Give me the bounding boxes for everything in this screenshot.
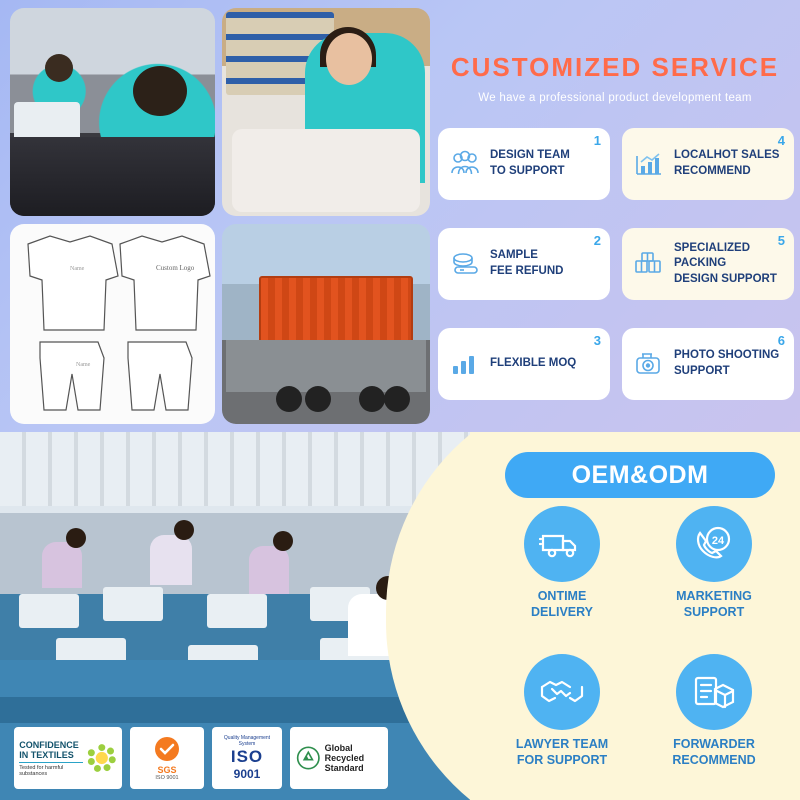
certificate-strip: CONFIDENCE IN TEXTILES Tested for harmfu… [0,716,470,800]
certificate-sgs: SGS ISO 9001 [130,727,204,789]
service-card-sample-fee-refund[interactable]: 2 SAMPLE FEE REFUND [438,228,610,300]
phone-24-icon: 24 [676,506,752,582]
oem-odm-badge: OEM&ODM [505,452,775,498]
cert-title: SGS [152,765,182,775]
oem-label-line1: MARKETING [676,589,752,603]
page-title: CUSTOMIZED SERVICE [440,52,790,83]
oem-label-line1: ONTIME [538,589,587,603]
oem-label-line2: SUPPORT [684,605,744,619]
service-label-line1: FLEXIBLE MOQ [490,357,576,369]
oem-label-line1: LAWYER TEAM [516,737,608,751]
oem-item-ontime-delivery[interactable]: ONTIME DELIVERY [487,506,637,621]
service-card-design-team[interactable]: 1 DESIGN TEAM TO SUPPORT [438,128,610,200]
photo-design-sketches: Custom Logo Name Name [10,224,215,424]
recycle-icon [296,743,321,773]
service-label-line1: SAMPLE [490,249,538,261]
boxes-icon [632,247,666,281]
service-card-flexible-moq[interactable]: 3 FLEXIBLE MOQ [438,328,610,400]
svg-text:Custom Logo: Custom Logo [156,264,195,272]
svg-text:Name: Name [76,362,91,368]
service-label-line1: DESIGN TEAM [490,149,570,161]
service-number: 6 [778,333,785,348]
service-number: 5 [778,233,785,248]
cert-subtitle: 9001 [218,767,276,781]
service-card-photo-shooting[interactable]: 6 PHOTO SHOOTING SUPPORT [622,328,794,400]
service-card-localhot-sales[interactable]: 4 LOCALHOT SALES RECOMMEND [622,128,794,200]
people-icon [448,147,482,181]
service-label-line2: SUPPORT [674,365,730,377]
cert-title: ISO [218,747,276,767]
camera-icon [632,347,666,381]
service-label-line2: TO SUPPORT [490,165,565,177]
checklist-box-icon [676,654,752,730]
certificate-iso-9001: Quality Management System ISO 9001 [212,727,282,789]
delivery-truck-icon [524,506,600,582]
service-label-line2: FEE REFUND [490,265,563,277]
cert-title-line2: Standard [325,763,382,773]
service-number: 4 [778,133,785,148]
oem-item-lawyer-team[interactable]: LAWYER TEAM FOR SUPPORT [487,654,637,769]
svg-text:24: 24 [712,535,725,547]
cert-title-line1: Global Recycled [325,743,382,763]
service-label-line2: DESIGN SUPPORT [674,273,777,285]
service-number: 1 [594,133,601,148]
cert-title-line1: CONFIDENCE [19,740,83,750]
bar-chart-icon [448,347,482,381]
service-label-line1: SPECIALIZED PACKING [674,242,750,270]
oem-label-line1: FORWARDER [673,737,755,751]
page-subtitle: We have a professional product developme… [440,92,790,104]
photo-packing-warehouse [222,8,430,216]
svg-text:Name: Name [70,266,85,272]
service-card-specialized-packing[interactable]: 5 SPECIALIZED PACKING DESIGN SUPPORT [622,228,794,300]
growth-chart-icon [632,147,666,181]
oem-label-line2: RECOMMEND [672,753,755,767]
service-number: 3 [594,333,601,348]
photo-grid: Custom Logo Name Name [10,8,430,426]
cert-subtitle: ISO 9001 [152,775,182,781]
photo-sewing-workshop [10,8,215,216]
oem-service-grid: ONTIME DELIVERY 24 MARKETING SUPPORT [487,506,797,706]
photo-shipping-container [222,224,430,424]
oem-label-line2: FOR SUPPORT [517,753,607,767]
sgs-seal-icon [152,735,182,765]
cert-subtitle: Tested for harmful substances [19,765,83,777]
oem-item-forwarder-recommend[interactable]: FORWARDER RECOMMEND [639,654,789,769]
oeko-tex-flower-icon [87,741,117,775]
service-number: 2 [594,233,601,248]
coins-icon [448,247,482,281]
cert-title-line2: IN TEXTILES [19,750,83,760]
certificate-oeko-tex: CONFIDENCE IN TEXTILES Tested for harmfu… [14,727,122,789]
service-cards: 1 DESIGN TEAM TO SUPPORT 2 [438,128,794,424]
service-label-line1: PHOTO SHOOTING [674,349,779,361]
oem-label-line2: DELIVERY [531,605,593,619]
certificate-global-recycled-standard: Global Recycled Standard [290,727,388,789]
oem-item-marketing-support[interactable]: 24 MARKETING SUPPORT [639,506,789,621]
top-section: Custom Logo Name Name CUSTOMIZED SERVICE… [0,0,800,432]
service-label-line2: RECOMMEND [674,165,751,177]
service-label-line1: LOCALHOT SALES [674,149,779,161]
handshake-icon [524,654,600,730]
